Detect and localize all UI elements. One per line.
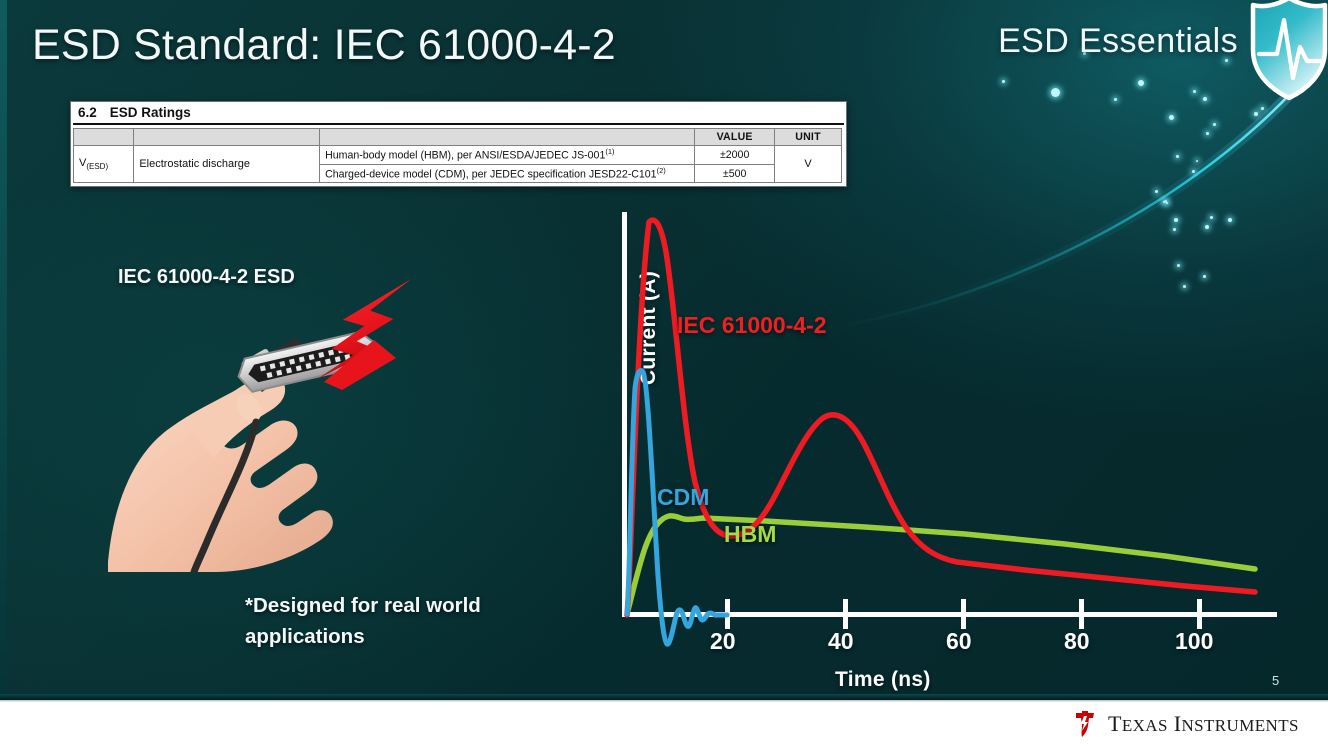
ti-t: T bbox=[1108, 711, 1122, 736]
section-title: ESD Ratings bbox=[110, 105, 191, 120]
series-label-cdm: CDM bbox=[657, 484, 709, 511]
condition-text-cdm: Charged-device model (CDM), per JEDEC sp… bbox=[325, 168, 656, 180]
table-header-row: VALUE UNIT bbox=[74, 129, 842, 146]
header-parameter bbox=[134, 129, 320, 146]
ratings-grid: VALUE UNIT V(ESD) Electrostatic discharg… bbox=[73, 128, 842, 183]
lightning-bolt-icon bbox=[317, 270, 412, 390]
ti-nstruments: NSTRUMENTS bbox=[1181, 716, 1298, 735]
x-tick-label-80: 80 bbox=[1064, 628, 1090, 655]
x-tick-label-100: 100 bbox=[1175, 628, 1213, 655]
esd-ratings-table: 6.2ESD Ratings VALUE UNIT V(ESD) Electro… bbox=[70, 101, 847, 187]
cell-value-hbm: ±2000 bbox=[695, 146, 775, 165]
slide-background: ESD Standard: IEC 61000-4-2 ESD Essentia… bbox=[0, 0, 1328, 700]
x-tick-label-60: 60 bbox=[946, 628, 972, 655]
deck-left-edge bbox=[0, 0, 7, 700]
slide-root: ESD Standard: IEC 61000-4-2 ESD Essentia… bbox=[0, 0, 1328, 746]
header-value: VALUE bbox=[695, 129, 775, 146]
footer-divider bbox=[0, 700, 1328, 702]
chart-plot-area bbox=[565, 196, 1300, 666]
page-title: ESD Standard: IEC 61000-4-2 bbox=[32, 21, 616, 70]
esd-waveform-chart: Current (A) IEC 61000-4-2 CDM bbox=[565, 196, 1300, 696]
ti-exas: EXAS bbox=[1122, 716, 1168, 735]
header-condition bbox=[320, 129, 695, 146]
x-tick-label-20: 20 bbox=[710, 628, 736, 655]
table-row: V(ESD) Electrostatic discharge Human-bod… bbox=[74, 146, 842, 165]
symbol-subscript: (ESD) bbox=[86, 162, 108, 171]
illustration-note: *Designed for real world applications bbox=[245, 590, 575, 652]
cell-parameter: Electrostatic discharge bbox=[134, 146, 320, 183]
cell-condition-cdm: Charged-device model (CDM), per JEDEC sp… bbox=[320, 164, 695, 183]
texas-instruments-logo: TEXAS INSTRUMENTS bbox=[1069, 709, 1299, 739]
series-label-iec: IEC 61000-4-2 bbox=[677, 312, 827, 339]
header-symbol bbox=[74, 129, 134, 146]
section-number: 6.2 bbox=[78, 105, 97, 120]
brand-label: ESD Essentials bbox=[998, 22, 1238, 61]
slide-page-number: 5 bbox=[1272, 673, 1279, 688]
table-section-heading: 6.2ESD Ratings bbox=[73, 102, 844, 125]
texas-instruments-logo-icon bbox=[1069, 709, 1099, 739]
header-unit: UNIT bbox=[774, 129, 841, 146]
cell-condition-hbm: Human-body model (HBM), per ANSI/ESDA/JE… bbox=[320, 146, 695, 165]
series-label-hbm: HBM bbox=[724, 521, 776, 548]
chart-x-axis-label: Time (ns) bbox=[835, 668, 931, 692]
cell-symbol: V(ESD) bbox=[74, 146, 134, 183]
shield-pulse-icon bbox=[1246, 0, 1328, 104]
condition-note-hbm: (1) bbox=[605, 147, 614, 156]
x-tick-label-40: 40 bbox=[828, 628, 854, 655]
condition-note-cdm: (2) bbox=[657, 166, 666, 175]
cell-value-cdm: ±500 bbox=[695, 164, 775, 183]
hand-holding-connector-icon bbox=[96, 262, 436, 572]
condition-text-hbm: Human-body model (HBM), per ANSI/ESDA/JE… bbox=[325, 150, 605, 162]
cell-unit: V bbox=[774, 146, 841, 183]
company-name: TEXAS INSTRUMENTS bbox=[1108, 711, 1299, 737]
